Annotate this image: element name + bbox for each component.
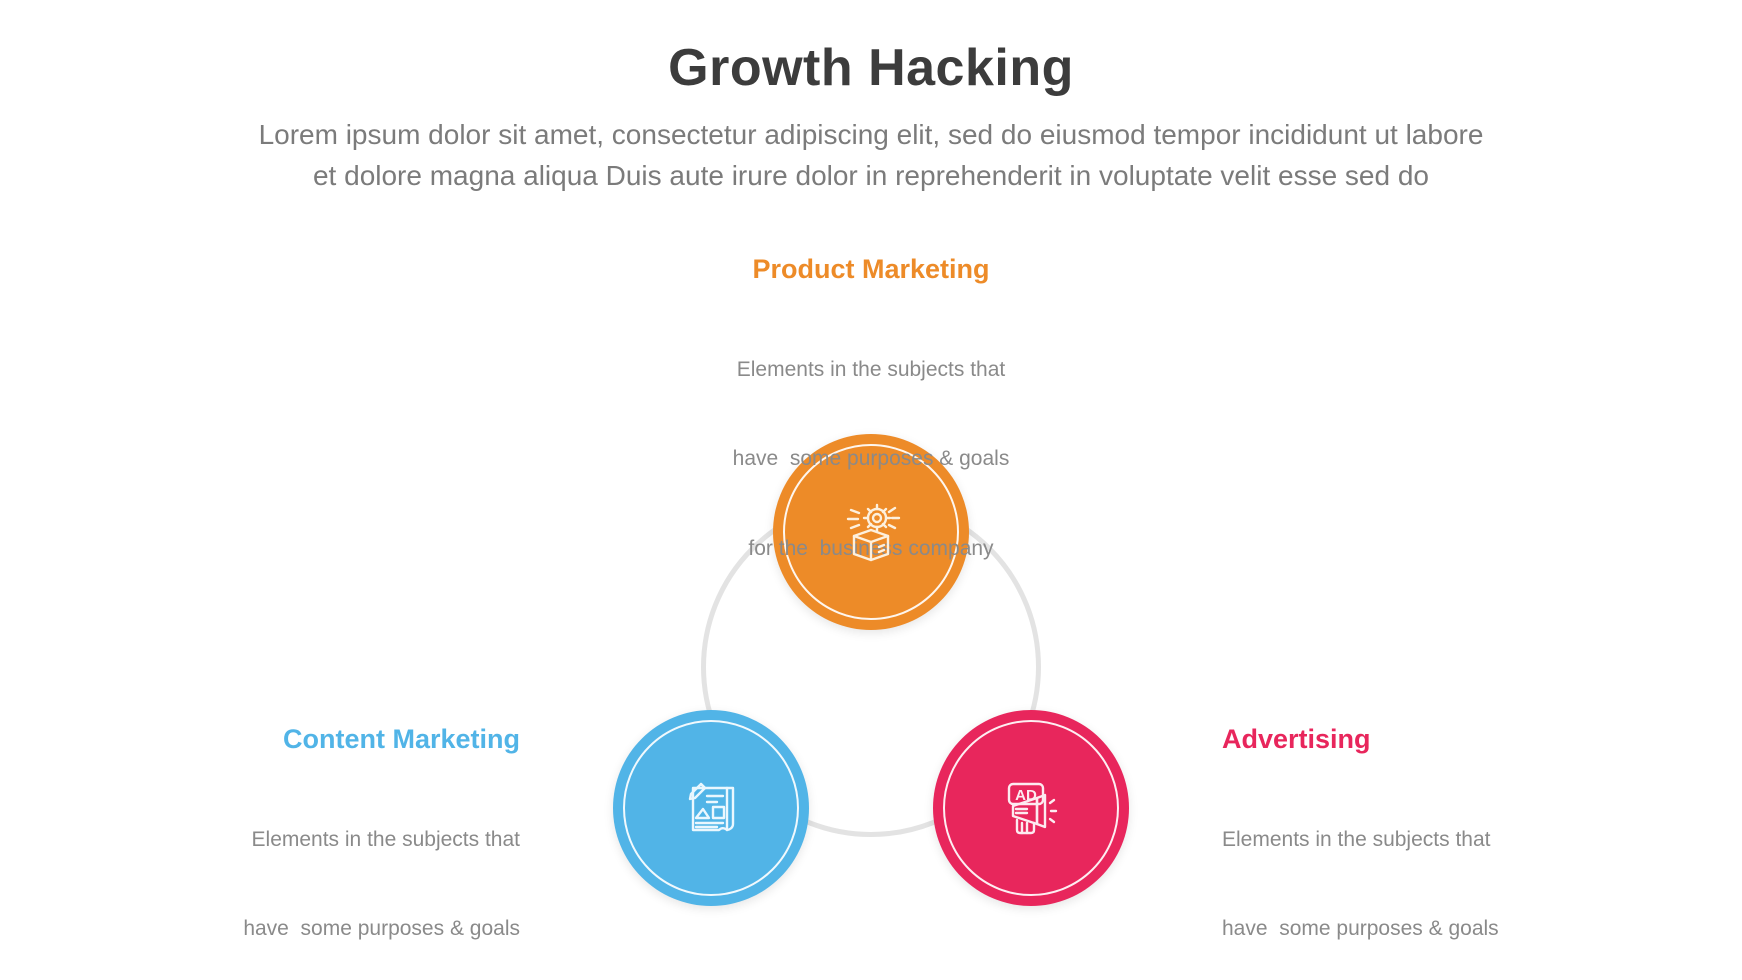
text-block-content-marketing: Content Marketing Elements in the subjec… (130, 723, 520, 980)
desc-advertising: Elements in the subjects that have some … (1222, 765, 1612, 980)
document-pencil-icon (671, 768, 751, 848)
desc-line: Elements in the subjects that (671, 355, 1071, 385)
label-advertising: Advertising (1222, 723, 1612, 755)
infographic-page: Growth Hacking Lorem ipsum dolor sit ame… (0, 0, 1742, 980)
node-content-marketing[interactable] (613, 710, 809, 906)
desc-line: Elements in the subjects that (130, 825, 520, 855)
node-advertising[interactable]: AD (933, 710, 1129, 906)
label-content-marketing: Content Marketing (130, 723, 520, 755)
desc-line: Elements in the subjects that (1222, 825, 1612, 855)
text-block-advertising: Advertising Elements in the subjects tha… (1222, 723, 1612, 980)
product-box-gear-icon (831, 492, 911, 572)
desc-line: have some purposes & goals (1222, 914, 1612, 944)
desc-content-marketing: Elements in the subjects that have some … (130, 765, 520, 980)
desc-line: have some purposes & goals (671, 444, 1071, 474)
diagram-stage: AD Product Marketing Elements in the (0, 0, 1742, 980)
label-product-marketing: Product Marketing (671, 253, 1071, 285)
desc-product-marketing: Elements in the subjects that have some … (671, 295, 1071, 623)
megaphone-ad-icon: AD (991, 768, 1071, 848)
desc-line: have some purposes & goals (130, 914, 520, 944)
